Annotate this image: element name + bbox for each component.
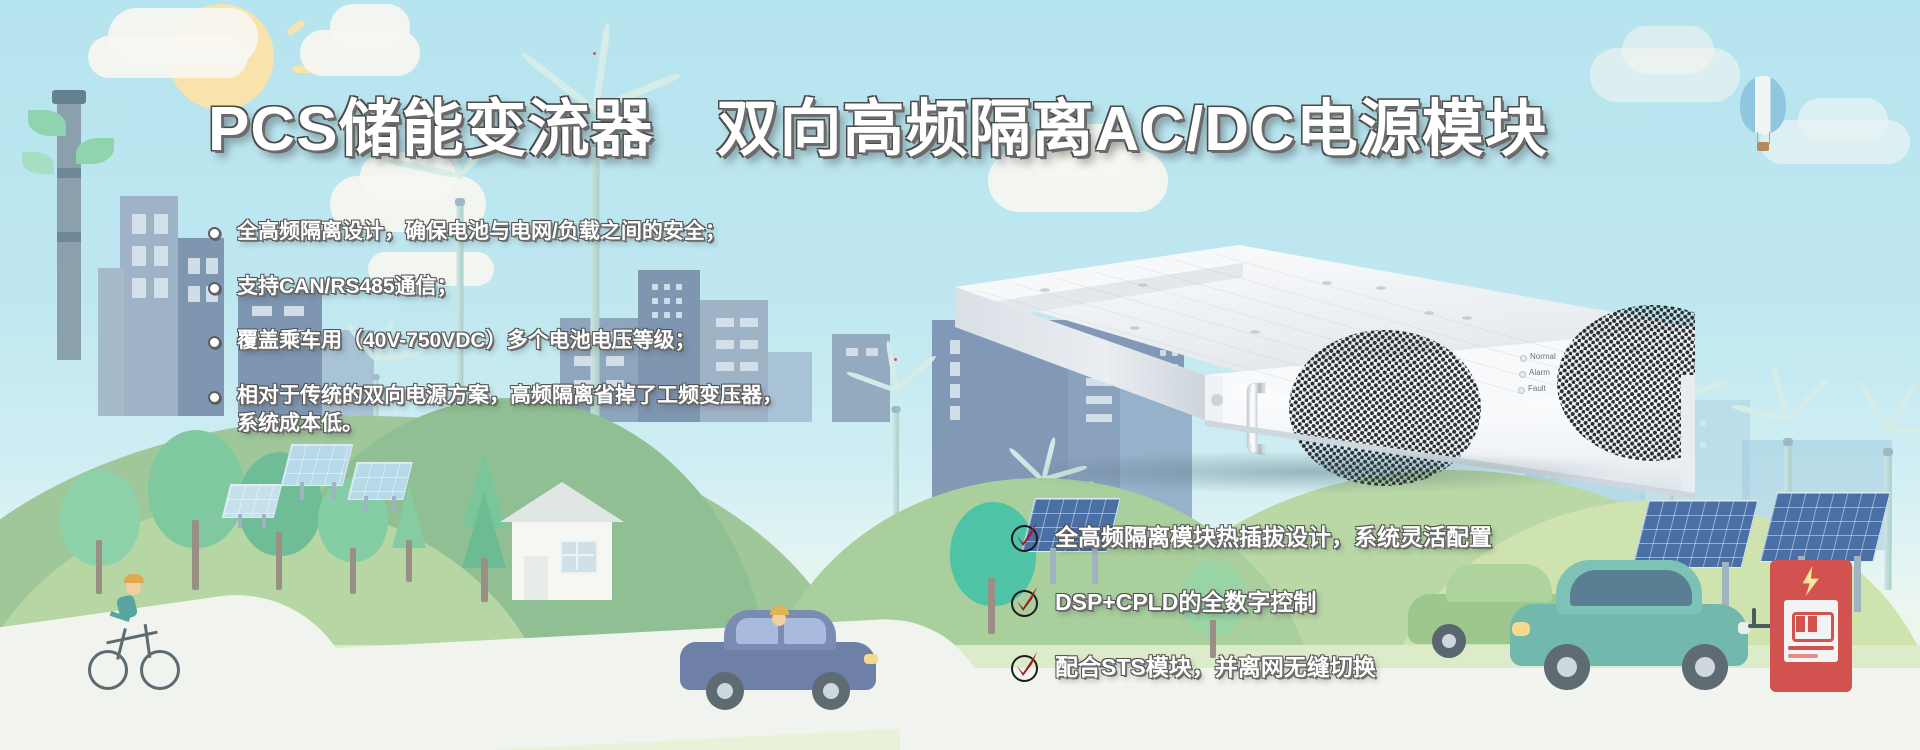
feature-text: 全高频隔离设计，确保电池与电网/负载之间的安全； xyxy=(237,218,726,246)
feature-list: 全高频隔离设计，确保电池与电网/负载之间的安全； 支持CAN/RS485通信； … xyxy=(208,218,848,465)
feature-text: 相对于传统的双向电源方案，高频隔离省掉了工频变压器， 系统成本低。 xyxy=(237,382,783,437)
feature-text: 覆盖乘车用（40V-750VDC）多个电池电压等级； xyxy=(237,327,696,355)
feature-text: 支持CAN/RS485通信； xyxy=(237,273,458,301)
bullet-dot-icon xyxy=(208,227,221,240)
check-circle-icon xyxy=(1010,585,1041,616)
led-label-normal: Normal xyxy=(1530,352,1556,361)
promotional-banner: Normal Alarm Fault PCS储能变流器 双向高频隔离AC/DC电… xyxy=(0,0,1920,750)
list-item: 全高频隔离设计，确保电池与电网/负载之间的安全； xyxy=(208,218,848,246)
highlight-text: 全高频隔离模块热插拔设计，系统灵活配置 xyxy=(1055,518,1492,552)
led-label-fault: Fault xyxy=(1528,384,1546,393)
device-shadow xyxy=(990,450,1630,494)
product-device-image: Normal Alarm Fault xyxy=(955,215,1695,500)
check-circle-icon xyxy=(1010,650,1041,681)
bullet-dot-icon xyxy=(208,391,221,404)
led-dot-fault xyxy=(1518,387,1525,394)
led-dot-normal xyxy=(1520,355,1527,362)
list-item: 配合STS模块，并离网无缝切换 xyxy=(1010,648,1492,682)
list-item: 全高频隔离模块热插拔设计，系统灵活配置 xyxy=(1010,518,1492,552)
highlight-text: 配合STS模块，并离网无缝切换 xyxy=(1055,648,1376,682)
check-circle-icon xyxy=(1010,520,1041,551)
highlight-list: 全高频隔离模块热插拔设计，系统灵活配置 DSP+CPLD的全数字控制 配合STS… xyxy=(1010,518,1492,713)
bullet-dot-icon xyxy=(208,282,221,295)
list-item: 覆盖乘车用（40V-750VDC）多个电池电压等级； xyxy=(208,327,848,355)
banner-title: PCS储能变流器 双向高频隔离AC/DC电源模块 xyxy=(208,78,1548,168)
list-item: 相对于传统的双向电源方案，高频隔离省掉了工频变压器， 系统成本低。 xyxy=(208,382,848,437)
bullet-dot-icon xyxy=(208,336,221,349)
led-dot-alarm xyxy=(1519,371,1526,378)
list-item: 支持CAN/RS485通信； xyxy=(208,273,848,301)
highlight-text: DSP+CPLD的全数字控制 xyxy=(1055,583,1316,617)
list-item: DSP+CPLD的全数字控制 xyxy=(1010,583,1492,617)
led-label-alarm: Alarm xyxy=(1529,368,1550,377)
